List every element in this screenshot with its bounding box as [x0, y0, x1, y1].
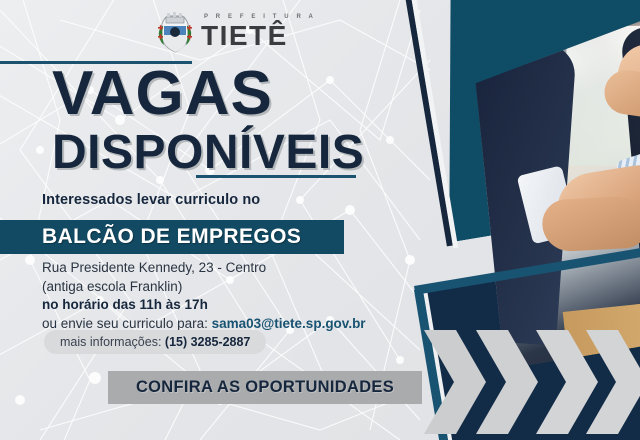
- email-prefix: ou envie seu curriculo para:: [42, 316, 212, 331]
- headline-line-2: DISPONÍVEIS: [52, 129, 420, 177]
- coat-of-arms-icon: [156, 10, 194, 54]
- address-line-1: Rua Presidente Kennedy, 23 - Centro: [42, 259, 366, 278]
- address-line-2: (antiga escola Franklin): [42, 278, 366, 297]
- lead-text: Interessados levar curriculo no: [42, 192, 260, 208]
- cta-button[interactable]: CONFIRA AS OPORTUNIDADES: [108, 371, 422, 404]
- email-address[interactable]: sama03@tiete.sp.gov.br: [212, 316, 366, 331]
- phone-number[interactable]: (15) 3285-2887: [165, 335, 250, 349]
- phone-pill: mais informações: (15) 3285-2887: [44, 330, 266, 354]
- balcao-banner: BALCÃO DE EMPREGOS: [0, 220, 344, 254]
- headline-line-1: VAGAS: [52, 64, 420, 125]
- hours-line: no horário das 11h às 17h: [42, 296, 366, 315]
- cta-button-label: CONFIRA AS OPORTUNIDADES: [136, 378, 394, 397]
- headline: VAGAS DISPONÍVEIS: [0, 64, 420, 177]
- city-logo: P R E F E I T U R A TIETÊ: [156, 10, 316, 54]
- chevron-right-icon: [586, 330, 640, 434]
- address-block: Rua Presidente Kennedy, 23 - Centro (ant…: [42, 259, 366, 334]
- logo-city-name: TIETÊ: [201, 22, 316, 50]
- phone-label: mais informações:: [60, 335, 165, 349]
- balcao-banner-label: BALCÃO DE EMPREGOS: [42, 225, 301, 249]
- poster-canvas: P R E F E I T U R A TIETÊ VAGAS DISPONÍV…: [0, 0, 640, 440]
- chevron-right-icon: [476, 330, 538, 434]
